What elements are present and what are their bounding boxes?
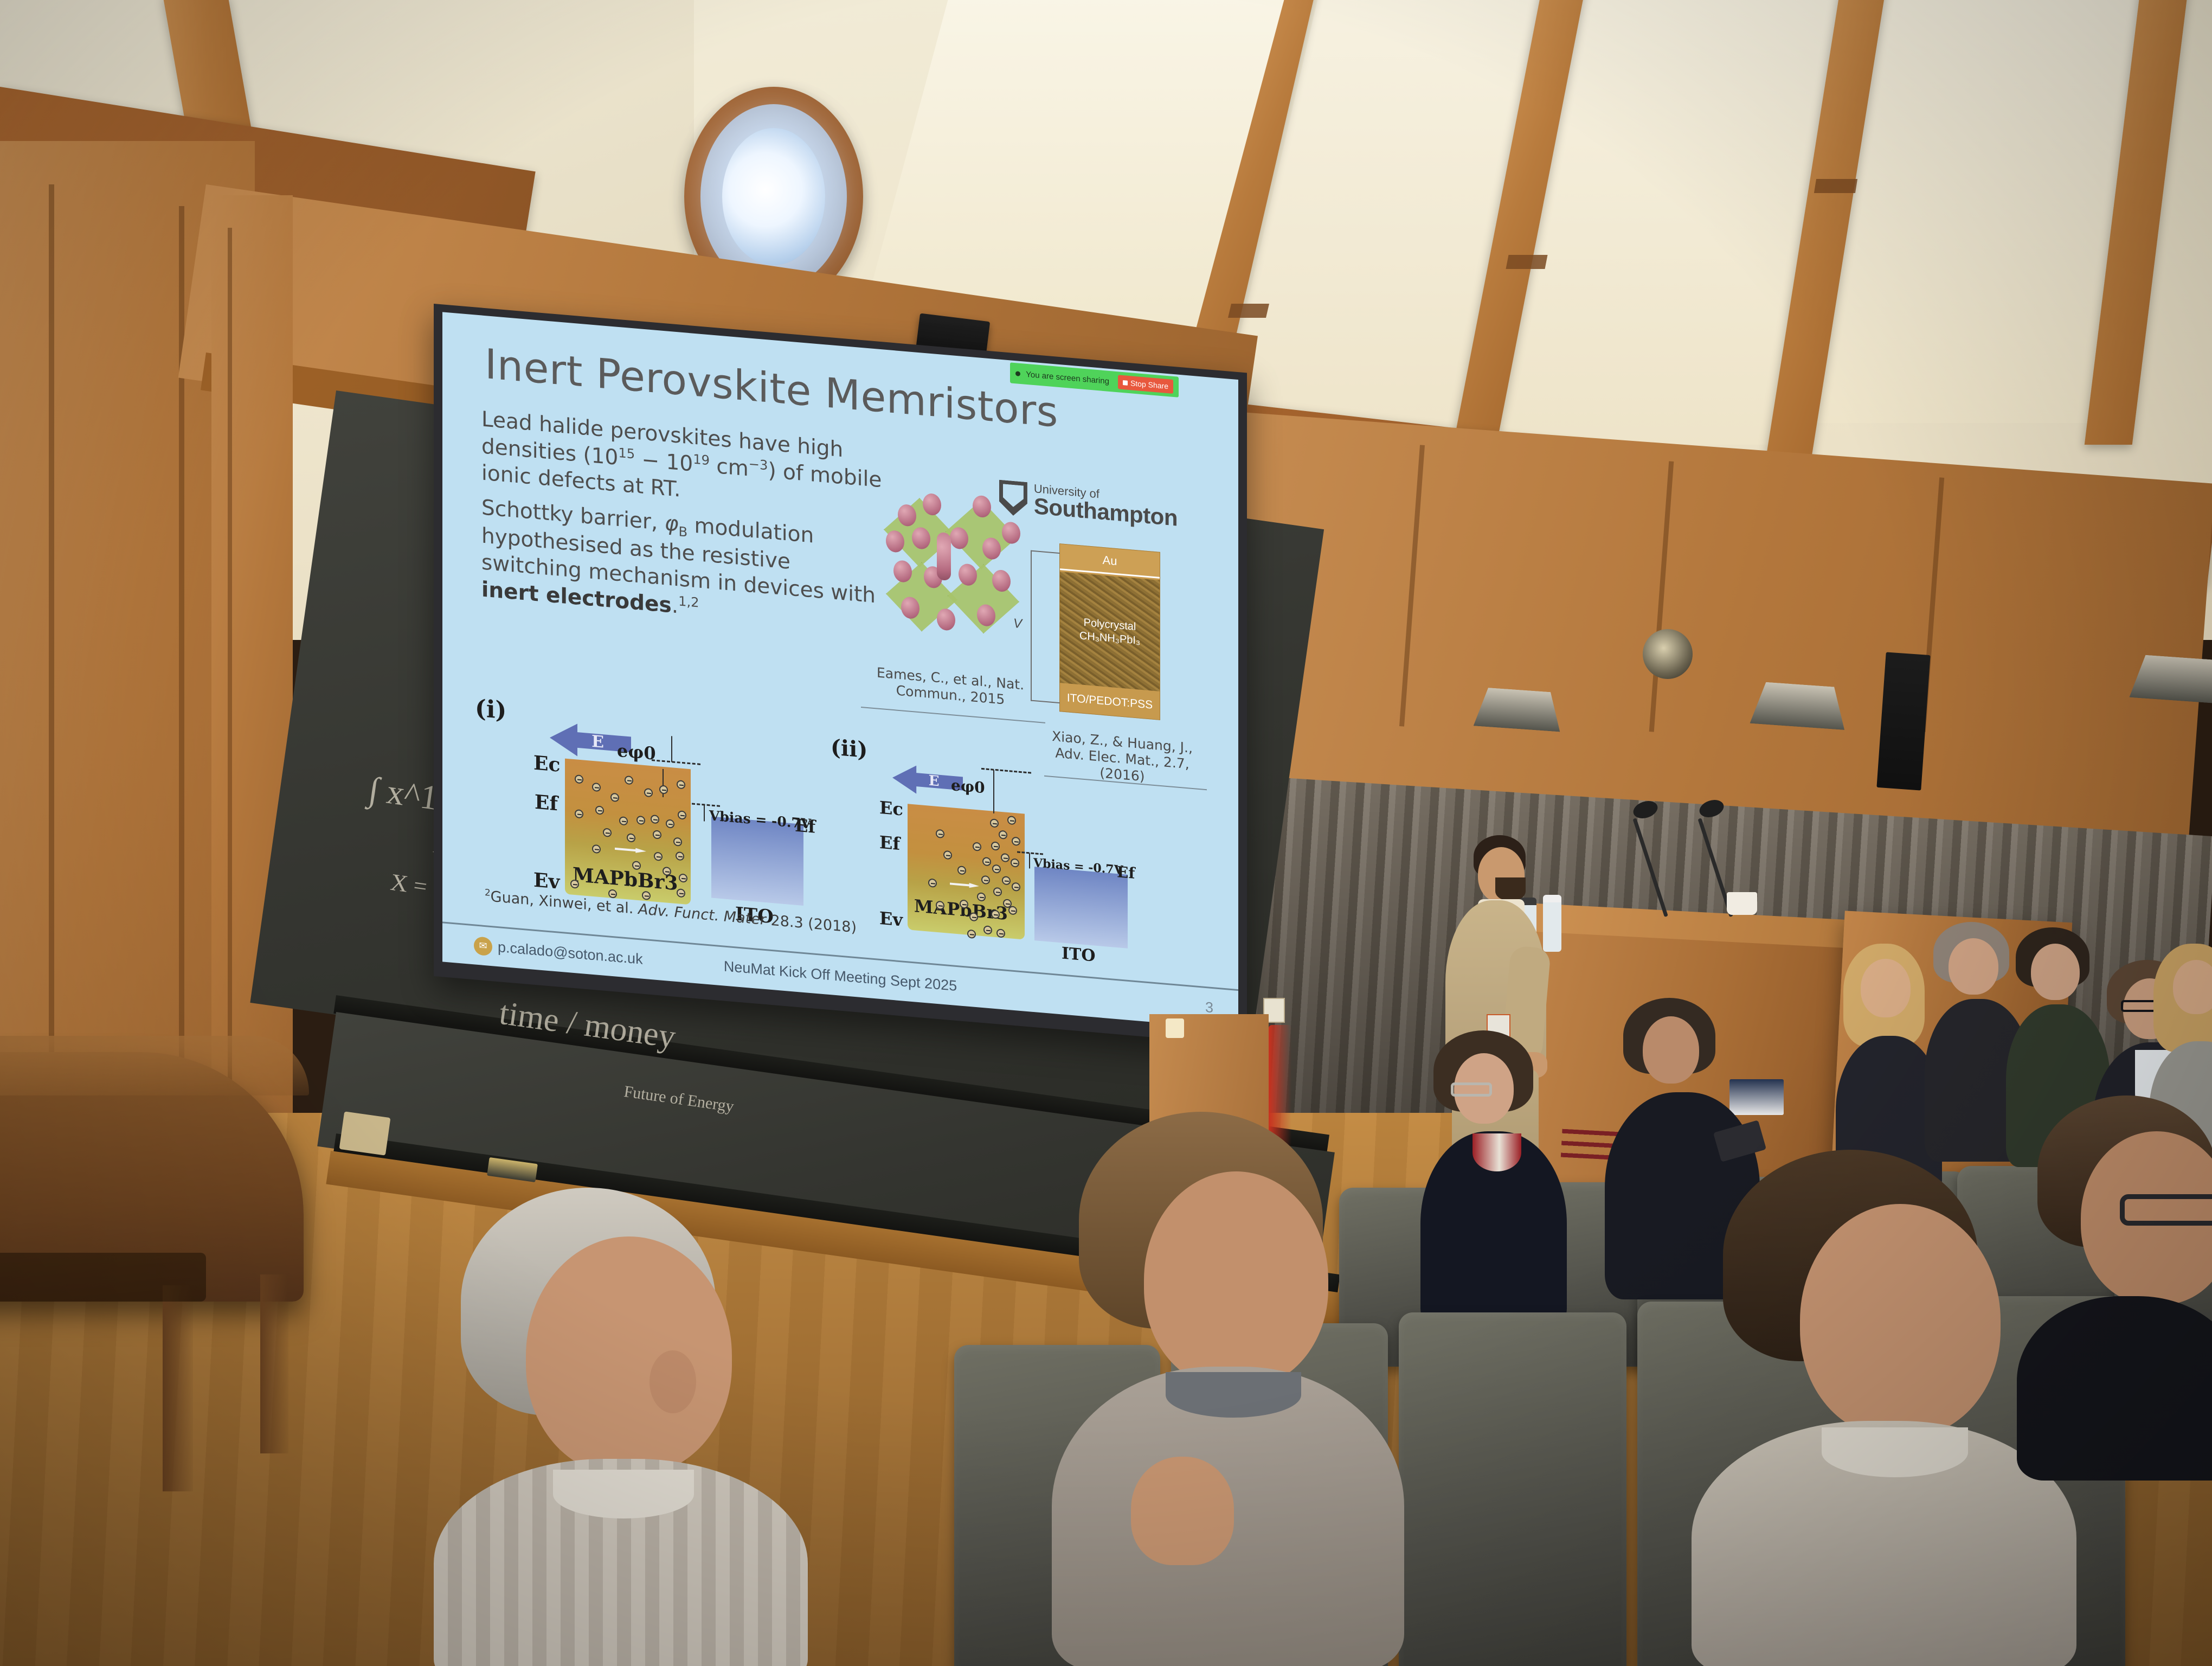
halide-ion-9 (893, 560, 912, 583)
band-ii-ev: Ev (879, 908, 903, 931)
band-i-ion (651, 815, 659, 824)
foreground-torso (2017, 1296, 2212, 1481)
band-ii-ion (957, 866, 966, 875)
device-layer-perovskite: Polycrystal CH₃NH₃PbI₃ (1060, 572, 1160, 691)
desk-lamp-glow (1166, 1018, 1184, 1038)
slide-surface: You are screen sharing Stop Share Inert … (442, 312, 1238, 1029)
band-ii-ion (1008, 906, 1017, 915)
band-i-ion (654, 852, 663, 861)
audience-head (1861, 959, 1911, 1017)
beam-notch-1 (1228, 304, 1269, 318)
band-ii-ion (936, 901, 944, 910)
band-i-barrier-dash (652, 759, 700, 765)
band-ii-ion (992, 864, 1001, 874)
band-i-ef: Ef (535, 791, 558, 816)
band-i-ion (636, 816, 645, 825)
band-i-ion (677, 780, 685, 789)
glasses-icon (1451, 1082, 1492, 1097)
audience-head (1949, 938, 1998, 995)
band-ii-ion (993, 887, 1002, 896)
band-i-ion (659, 785, 668, 794)
band-ii-ion (996, 928, 1005, 938)
foreground-person-brown-hair (1052, 1112, 1410, 1665)
mail-icon: ✉ (474, 936, 492, 956)
foreground-head (1800, 1204, 2001, 1437)
band-ii-ion (943, 850, 952, 860)
band-i-ion (575, 774, 583, 784)
foreground-collar (553, 1470, 694, 1518)
band-i-ion (632, 861, 641, 870)
footer-email-group: ✉ p.calado@soton.ac.uk (474, 936, 643, 969)
beam-notch-3 (1814, 179, 1857, 193)
band-ii-ion (983, 925, 992, 934)
water-cup (1727, 892, 1757, 915)
band-i-ion (592, 783, 601, 792)
ma-cation-chain (937, 532, 951, 581)
band-ii-ion (1002, 876, 1011, 885)
band-i-ion (642, 891, 651, 900)
foreground-collar (1166, 1372, 1301, 1418)
band-i-ion (619, 816, 628, 825)
device-voltage-label: V (1013, 616, 1022, 632)
band-ii-barrier-label: eφ0 (951, 776, 985, 797)
band-ii-ion (1007, 816, 1016, 825)
audience-member-lanyard-glasses (1420, 1030, 1578, 1334)
piano-leg-front (163, 1285, 193, 1491)
band-i-ion (627, 833, 635, 842)
university-wordmark: University of Southampton (1034, 483, 1178, 530)
slide-body: Lead halide perovskites have high densit… (481, 406, 883, 645)
perovskite-crystal-figure (876, 479, 1033, 666)
piano-lid (0, 1036, 309, 1095)
share-banner-label: You are screen sharing (1026, 369, 1109, 386)
foreground-hand (1131, 1457, 1234, 1565)
band-i-ion (653, 830, 661, 839)
wall-sconce-2 (1750, 681, 1847, 730)
p1-exp-1: 15 (618, 445, 635, 462)
band-ii-field-label: E (929, 773, 940, 790)
band-ii-ion (991, 841, 1000, 850)
device-stack-figure: Au Polycrystal CH₃NH₃PbI₃ ITO/PEDOT:PSS … (1059, 543, 1160, 720)
chalk-holder (339, 1111, 391, 1155)
footer-meeting: NeuMat Kick Off Meeting Sept 2025 (724, 958, 957, 995)
band-i-ion (666, 819, 674, 828)
band-ii-electrode-fermi: Ef (1117, 863, 1135, 882)
band-ii-ion (969, 912, 978, 921)
band-ii-ion (967, 930, 976, 939)
p1-part-c: cm (710, 453, 749, 481)
left-pilaster (211, 195, 293, 1161)
band-ii-ito-block (1034, 867, 1128, 949)
presenter-beard (1495, 877, 1526, 900)
seat-front-3 (1399, 1312, 1626, 1666)
band-diagram-ii: (ii) E Ec Ef Ev MAPbBr3 eφ0 ITO (827, 734, 1163, 980)
halide-ion-14 (937, 608, 955, 631)
band-ii-ion (982, 857, 991, 866)
band-i-ec: Ec (533, 752, 560, 777)
band-i-ion (570, 879, 579, 888)
band-ii-bias-arrow (1029, 853, 1030, 868)
foreground-ear (650, 1350, 696, 1413)
band-i-ion (677, 888, 685, 898)
band-i-barrier-arrow (671, 736, 672, 762)
band-ii-ion (981, 875, 990, 885)
band-i-ion (663, 867, 671, 876)
band-ii-index: (ii) (831, 734, 867, 763)
piano-keyboard-shadow (0, 1253, 206, 1302)
left-pilaster-line (228, 228, 232, 1117)
foreground-head (1144, 1171, 1328, 1388)
band-ii-ion (999, 830, 1007, 840)
band-ii-ef: Ef (879, 832, 900, 854)
p2-part-c: . (672, 593, 678, 618)
p1-exp-3: −3 (749, 456, 768, 473)
slide-paragraph-2: Schottky barrier, φB modulation hypothes… (481, 495, 883, 637)
band-i-fermi-dash (692, 803, 720, 806)
band-i-bias-arrow (704, 804, 705, 821)
band-i-ion (575, 809, 583, 818)
band-ii-ion (973, 842, 981, 851)
footnote-marker: 2 (485, 887, 491, 898)
band-i-ion (673, 837, 682, 847)
band-i-ion (595, 805, 604, 815)
band-ii-ion (1012, 837, 1020, 846)
wall-sconce-1 (1474, 687, 1563, 732)
band-ii-ion (977, 892, 986, 901)
foreground-person-far-right (2017, 1095, 2212, 1475)
band-i-electrode-fermi: Ef (795, 815, 815, 837)
band-ii-ion (936, 829, 944, 838)
band-i-ion (679, 873, 687, 882)
band-i-ion (610, 793, 619, 802)
lanyard-strap (1472, 1133, 1521, 1171)
band-i-ion (603, 828, 612, 837)
band-ii-ion (1001, 853, 1009, 862)
footer-email: p.calado@soton.ac.uk (498, 939, 643, 968)
beam-notch-2 (1506, 255, 1547, 269)
left-wall-panel-line-1 (49, 184, 54, 1106)
audience-head (2173, 960, 2212, 1014)
band-ii-ion (960, 899, 968, 908)
band-i-ion (644, 788, 653, 797)
p2-sup: 1,2 (678, 593, 699, 610)
glasses-icon (2120, 1194, 2212, 1226)
band-ii-ion (1011, 858, 1019, 867)
p1-part-b: − 10 (635, 447, 693, 476)
stop-share-label: Stop Share (1130, 379, 1168, 390)
band-ii-barrier-dash (981, 768, 1031, 774)
stop-icon (1123, 380, 1128, 386)
band-i-ion (592, 844, 601, 854)
foreground-collar (1822, 1427, 1968, 1477)
band-i-ion (678, 810, 686, 819)
band-ii-ion (991, 909, 1000, 919)
lecture-hall-scene: ∫ x^1/k x X = C²· time / money Future of… (0, 0, 2212, 1666)
p2-phi: φ (665, 511, 679, 536)
band-ii-ion (990, 818, 999, 828)
band-ii-ito-label: ITO (1062, 944, 1096, 965)
band-ii-ec: Ec (879, 797, 903, 820)
screen-frame: You are screen sharing Stop Share Inert … (434, 304, 1247, 1046)
audience-head (2031, 944, 2080, 1000)
window-glass (722, 128, 825, 265)
p1-exp-2: 19 (693, 451, 710, 468)
wall-speaker-right (1876, 652, 1930, 790)
band-i-ion (676, 851, 684, 861)
band-i-barrier-label: eφ0 (617, 740, 656, 764)
share-indicator-dot (1015, 371, 1020, 376)
crystal-caption: Eames, C., et al., Nat. Commun., 2015 (861, 663, 1040, 711)
piano-leg-back (260, 1274, 288, 1453)
device-circuit-wire (1031, 550, 1060, 704)
band-i-index: (i) (475, 694, 506, 725)
foreground-head (526, 1236, 732, 1475)
band-ii-ion (1012, 882, 1020, 892)
projection-screen: You are screen sharing Stop Share Inert … (434, 304, 1247, 1046)
band-i-ion (625, 776, 633, 785)
foreground-person-grey-hair (434, 1188, 813, 1666)
stop-share-button[interactable]: Stop Share (1118, 375, 1173, 394)
audience-head (1643, 1016, 1699, 1084)
band-i-ev: Ev (533, 869, 560, 894)
wall-clock-disc (1643, 629, 1693, 679)
p2-phi-sub: B (678, 524, 687, 540)
band-i-field-label: E (591, 732, 604, 752)
band-ii-barrier-arrow (993, 770, 994, 813)
halide-ion-11 (959, 563, 977, 586)
band-ii-ion (928, 879, 937, 888)
